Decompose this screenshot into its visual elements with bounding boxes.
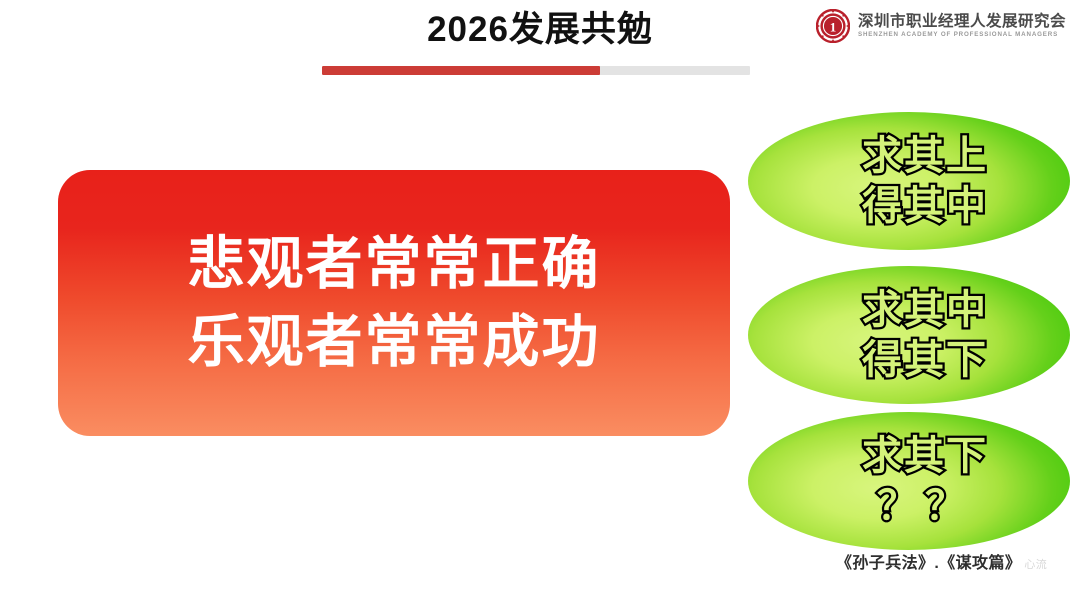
quote-panel: 悲观者常常正确 乐观者常常成功 [58, 170, 730, 436]
logo-name-en: SHENZHEN ACADEMY OF PROFESSIONAL MANAGER… [858, 32, 1066, 38]
citation-text: 《孙子兵法》.《谋攻篇》 [836, 555, 1021, 572]
source-citation: 《孙子兵法》.《谋攻篇》心流 [836, 549, 1047, 573]
ellipse-callout-2: 求其中 得其下 [748, 266, 1070, 404]
slide-canvas: 2026发展共勉 1 [0, 0, 1080, 608]
logo-wordmark: 深圳市职业经理人发展研究会 SHENZHEN ACADEMY OF PROFES… [858, 14, 1066, 39]
ellipse-1-line-2: 得其中 [862, 181, 988, 231]
ellipse-2-line-1: 求其中 [862, 285, 988, 335]
academy-seal-icon: 1 [816, 9, 850, 43]
ellipse-callout-1: 求其上 得其中 [748, 112, 1070, 250]
ellipse-2-line-2: 得其下 [862, 335, 988, 385]
ellipse-3-text: 求其下 ？？ [862, 431, 988, 531]
ellipse-1-text: 求其上 得其中 [862, 131, 988, 231]
citation-watermark: 心流 [1024, 559, 1047, 571]
title-divider-accent [322, 66, 600, 75]
ellipse-callout-3: 求其下 ？？ [748, 412, 1070, 550]
title-divider-bar [322, 66, 750, 75]
logo-name-cn: 深圳市职业经理人发展研究会 [858, 14, 1066, 30]
svg-text:1: 1 [830, 19, 837, 34]
ellipse-3-line-2: ？？ [877, 481, 973, 531]
quote-line-2: 乐观者常常成功 [188, 303, 601, 381]
organization-logo: 1 深圳市职业经理人发展研究会 SHENZHEN ACADEMY OF PROF… [816, 9, 1066, 43]
ellipse-2-text: 求其中 得其下 [862, 285, 988, 385]
ellipse-3-line-1: 求其下 [862, 431, 988, 481]
ellipse-1-line-1: 求其上 [862, 131, 988, 181]
quote-line-1: 悲观者常常正确 [188, 225, 601, 303]
